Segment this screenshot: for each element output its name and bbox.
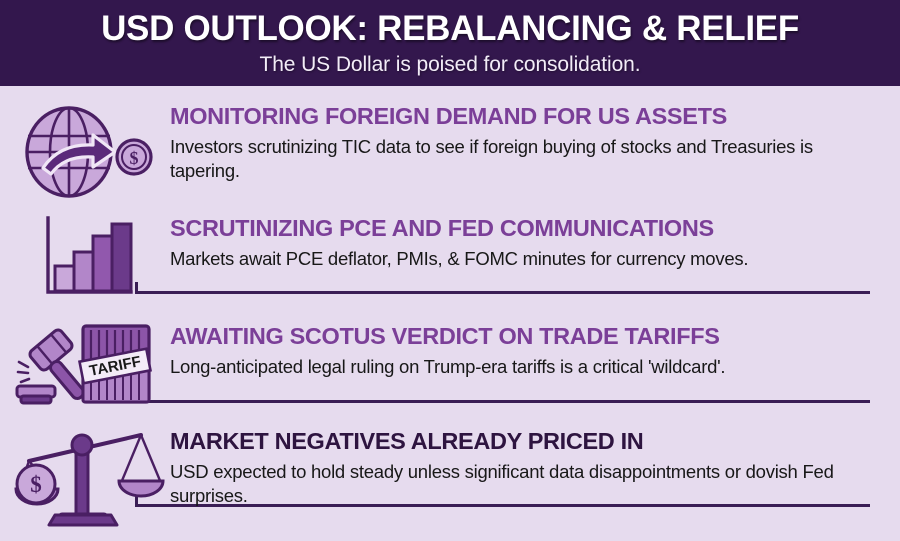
page-title: USD OUTLOOK: REBALANCING & RELIEF [101, 11, 799, 48]
section-body-2: Markets await PCE deflator, PMIs, & FOMC… [170, 247, 864, 272]
section-body-3: Long-anticipated legal ruling on Trump-e… [170, 355, 864, 380]
balance-scales-dollar-icon: $ [15, 429, 155, 529]
text-cell-2: SCRUTINIZING PCE AND FED COMMUNICATIONS … [170, 212, 900, 271]
icon-cell-3: TARIFF [0, 320, 170, 406]
infographic-root: USD OUTLOOK: REBALANCING & RELIEF The US… [0, 0, 900, 541]
section-title-2: SCRUTINIZING PCE AND FED COMMUNICATIONS [170, 216, 864, 242]
globe-dollar-icon: $ [21, 106, 149, 198]
icon-cell-4: $ [0, 425, 170, 529]
section-body-4: USD expected to hold steady unless signi… [170, 460, 864, 509]
gavel-tariff-icon: TARIFF [15, 322, 155, 406]
header-banner: USD OUTLOOK: REBALANCING & RELIEF The US… [0, 0, 900, 86]
section-body-1: Investors scrutinizing TIC data to see i… [170, 135, 864, 184]
icon-cell-1: $ [0, 100, 170, 198]
section-pce-fed: SCRUTINIZING PCE AND FED COMMUNICATIONS … [0, 198, 900, 308]
svg-text:$: $ [30, 472, 42, 497]
page-subtitle: The US Dollar is poised for consolidatio… [260, 53, 641, 77]
section-priced-in: $ MARKET NEGATIVES ALREADY PRICED IN USD… [0, 413, 900, 529]
sections-container: $ MONITORING FOREIGN DEMAND FOR US ASSET… [0, 86, 900, 529]
text-cell-4: MARKET NEGATIVES ALREADY PRICED IN USD e… [170, 425, 900, 509]
svg-text:$: $ [130, 148, 139, 168]
section-foreign-demand: $ MONITORING FOREIGN DEMAND FOR US ASSET… [0, 86, 900, 198]
section-scotus-tariffs: TARIFF AWAITING SCOTUS VERDICT ON TRADE … [0, 308, 900, 413]
section-title-1: MONITORING FOREIGN DEMAND FOR US ASSETS [170, 104, 864, 130]
bar-chart-icon [39, 214, 131, 296]
text-cell-3: AWAITING SCOTUS VERDICT ON TRADE TARIFFS… [170, 320, 900, 379]
icon-cell-2 [0, 212, 170, 296]
section-title-4: MARKET NEGATIVES ALREADY PRICED IN [170, 429, 864, 455]
section-title-3: AWAITING SCOTUS VERDICT ON TRADE TARIFFS [170, 324, 864, 350]
text-cell-1: MONITORING FOREIGN DEMAND FOR US ASSETS … [170, 100, 900, 184]
